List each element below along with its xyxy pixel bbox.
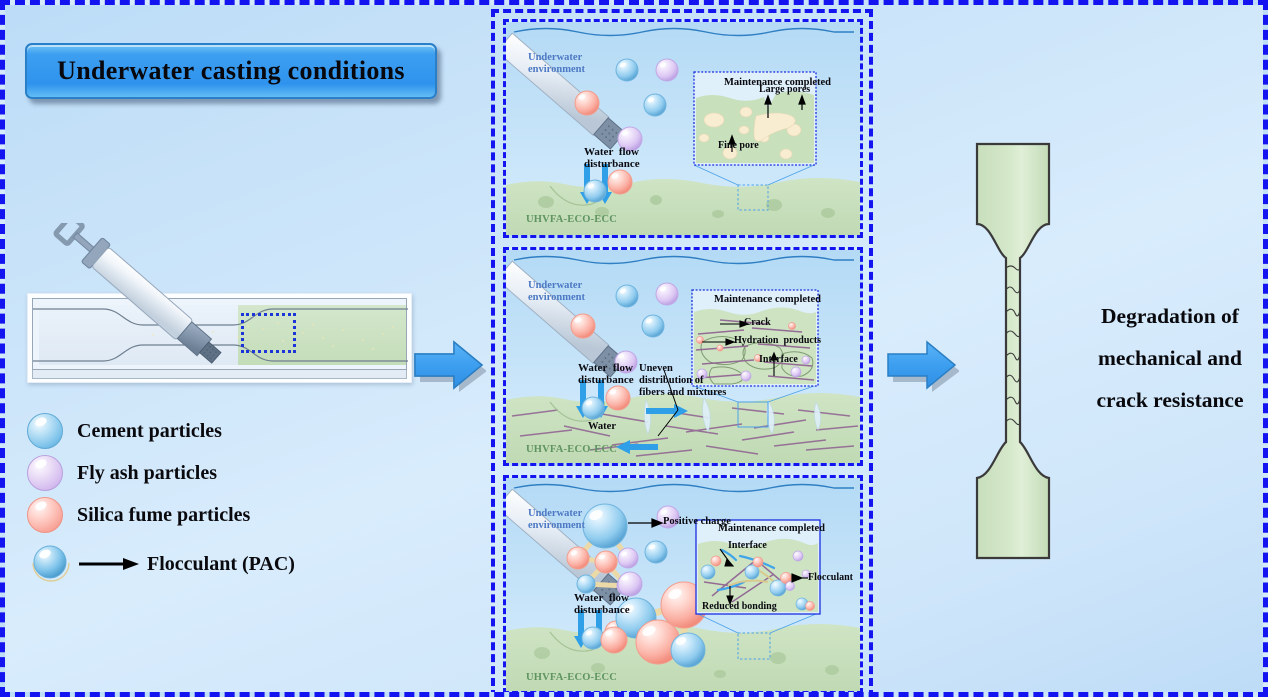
silica-fume-particle-icon — [27, 497, 63, 533]
panel-2-environment-label: Underwaterenvironment — [528, 280, 585, 303]
syringe-icon — [43, 223, 258, 368]
cracked-specimen-icon — [957, 140, 1067, 570]
panel-no-additive: Underwaterenvironment UHVFA-ECO-ECC Wate… — [503, 19, 863, 238]
mold-base — [32, 370, 407, 379]
page-title-text: Underwater casting conditions — [57, 56, 405, 86]
page-title: Underwater casting conditions — [25, 43, 437, 99]
panel-2-uneven-label: Unevendistribution offibers and mixtures — [639, 363, 726, 399]
legend-item-cement: Cement particles — [27, 410, 357, 452]
panel-3-annot-flocculant: Flocculant — [808, 572, 853, 583]
panel-3-material-label: UHVFA-ECO-ECC — [526, 672, 617, 683]
legend-label-cement: Cement particles — [77, 420, 222, 443]
result-line-1: Degradation of — [1077, 295, 1263, 337]
flocculant-pointer-arrow-icon — [79, 556, 139, 572]
panel-3-inset-title: Maintenance completed — [718, 523, 825, 534]
panel-1-waterflow-label: Water flowdisturbance — [584, 146, 640, 170]
panel-2-annot-hydration: Hydration products — [734, 335, 821, 346]
left-flow-arrow-icon — [412, 338, 486, 392]
panel-1-annot-fine-pore: Fine pore — [718, 140, 759, 151]
flocculant-icon — [27, 541, 75, 587]
cement-particle-icon — [27, 413, 63, 449]
panel-2-waterflow-label: Water flowdisturbance — [578, 362, 634, 386]
panel-1-environment-label: Underwaterenvironment — [528, 52, 585, 75]
fly-ash-particle-icon — [27, 455, 63, 491]
panel-2-inset-title: Maintenance completed — [714, 294, 821, 305]
panel-2-material-label: UHVFA-ECO-ECC — [526, 444, 617, 455]
legend-item-flocculant: Flocculant (PAC) — [27, 536, 357, 592]
panel-3-environment-label: Underwaterenvironment — [528, 508, 585, 531]
panel-2-annot-crack: Crack — [744, 317, 771, 328]
panel-2-water-label: Water — [588, 421, 616, 432]
panel-fiber-distribution: Underwaterenvironment UHVFA-ECO-ECC Wate… — [503, 247, 863, 466]
panel-2-annot-interface: Interface — [759, 354, 798, 365]
legend-label-silica: Silica fume particles — [77, 504, 250, 527]
figure-canvas: Underwater casting conditions — [0, 0, 1268, 697]
panel-1-material-label: UHVFA-ECO-ECC — [526, 214, 617, 225]
legend: Cement particles Fly ash particles Silic… — [27, 410, 357, 592]
panel-3-annot-reduced-bonding: Reduced bonding — [702, 601, 777, 612]
right-flow-arrow-icon — [885, 338, 959, 392]
legend-label-flocculant: Flocculant (PAC) — [147, 553, 295, 576]
panel-1-annot-large-pores: Large pores — [759, 84, 810, 95]
result-line-3: crack resistance — [1077, 379, 1263, 421]
panel-3-annot-interface: Interface — [728, 540, 767, 551]
legend-item-flyash: Fly ash particles — [27, 452, 357, 494]
result-conclusion-text: Degradation of mechanical and crack resi… — [1077, 295, 1263, 421]
legend-item-silica: Silica fume particles — [27, 494, 357, 536]
panel-3-waterflow-label: Water flowdisturbance — [574, 592, 630, 616]
panel-flocculant: Underwaterenvironment UHVFA-ECO-ECC Wate… — [503, 475, 863, 694]
legend-label-flyash: Fly ash particles — [77, 462, 217, 485]
result-line-2: mechanical and — [1077, 337, 1263, 379]
